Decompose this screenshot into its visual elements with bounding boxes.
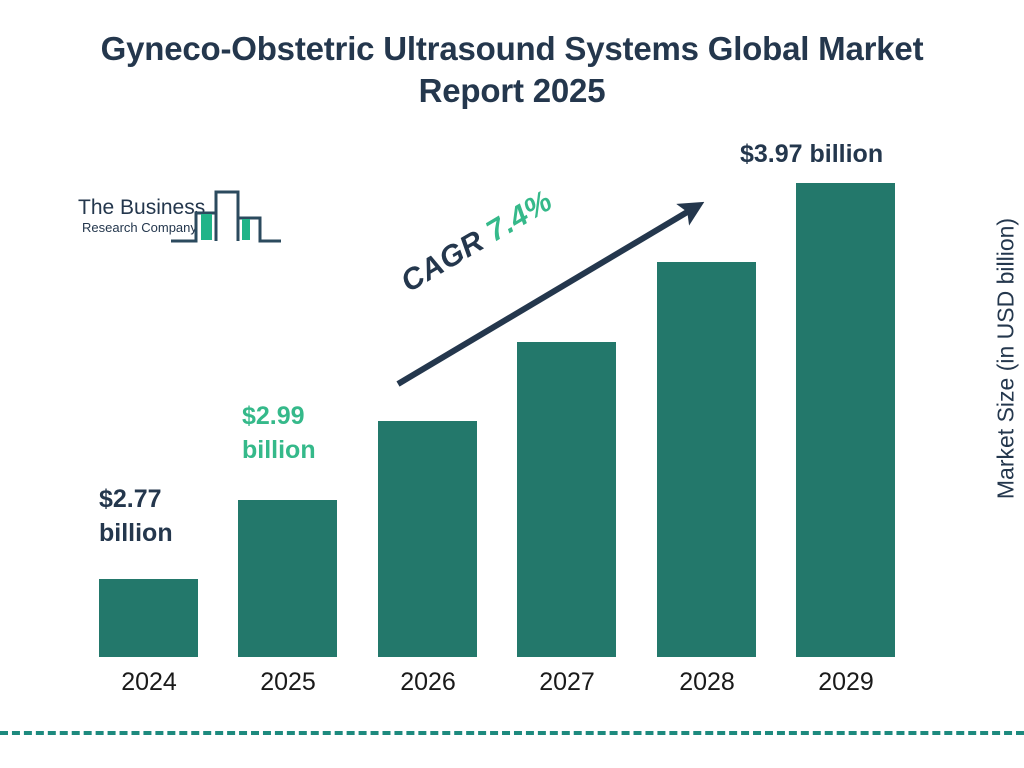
cagr-arrow-icon — [0, 0, 1024, 768]
value-label-2029: $3.97 billion — [740, 138, 883, 172]
category-label-2025: 2025 — [228, 668, 348, 697]
footer-divider — [0, 731, 1024, 735]
category-label-2027: 2027 — [507, 668, 627, 697]
bar-chart-plot — [0, 0, 1024, 768]
chart-page: Gyneco-Obstetric Ultrasound Systems Glob… — [0, 0, 1024, 768]
y-axis-title: Market Size (in USD billion) — [993, 209, 1020, 509]
category-label-2028: 2028 — [647, 668, 767, 697]
value-label-2024: $2.77 billion — [99, 483, 173, 551]
category-label-2024: 2024 — [89, 668, 209, 697]
category-label-2029: 2029 — [786, 668, 906, 697]
category-label-2026: 2026 — [368, 668, 488, 697]
value-label-2025: $2.99 billion — [242, 400, 316, 468]
